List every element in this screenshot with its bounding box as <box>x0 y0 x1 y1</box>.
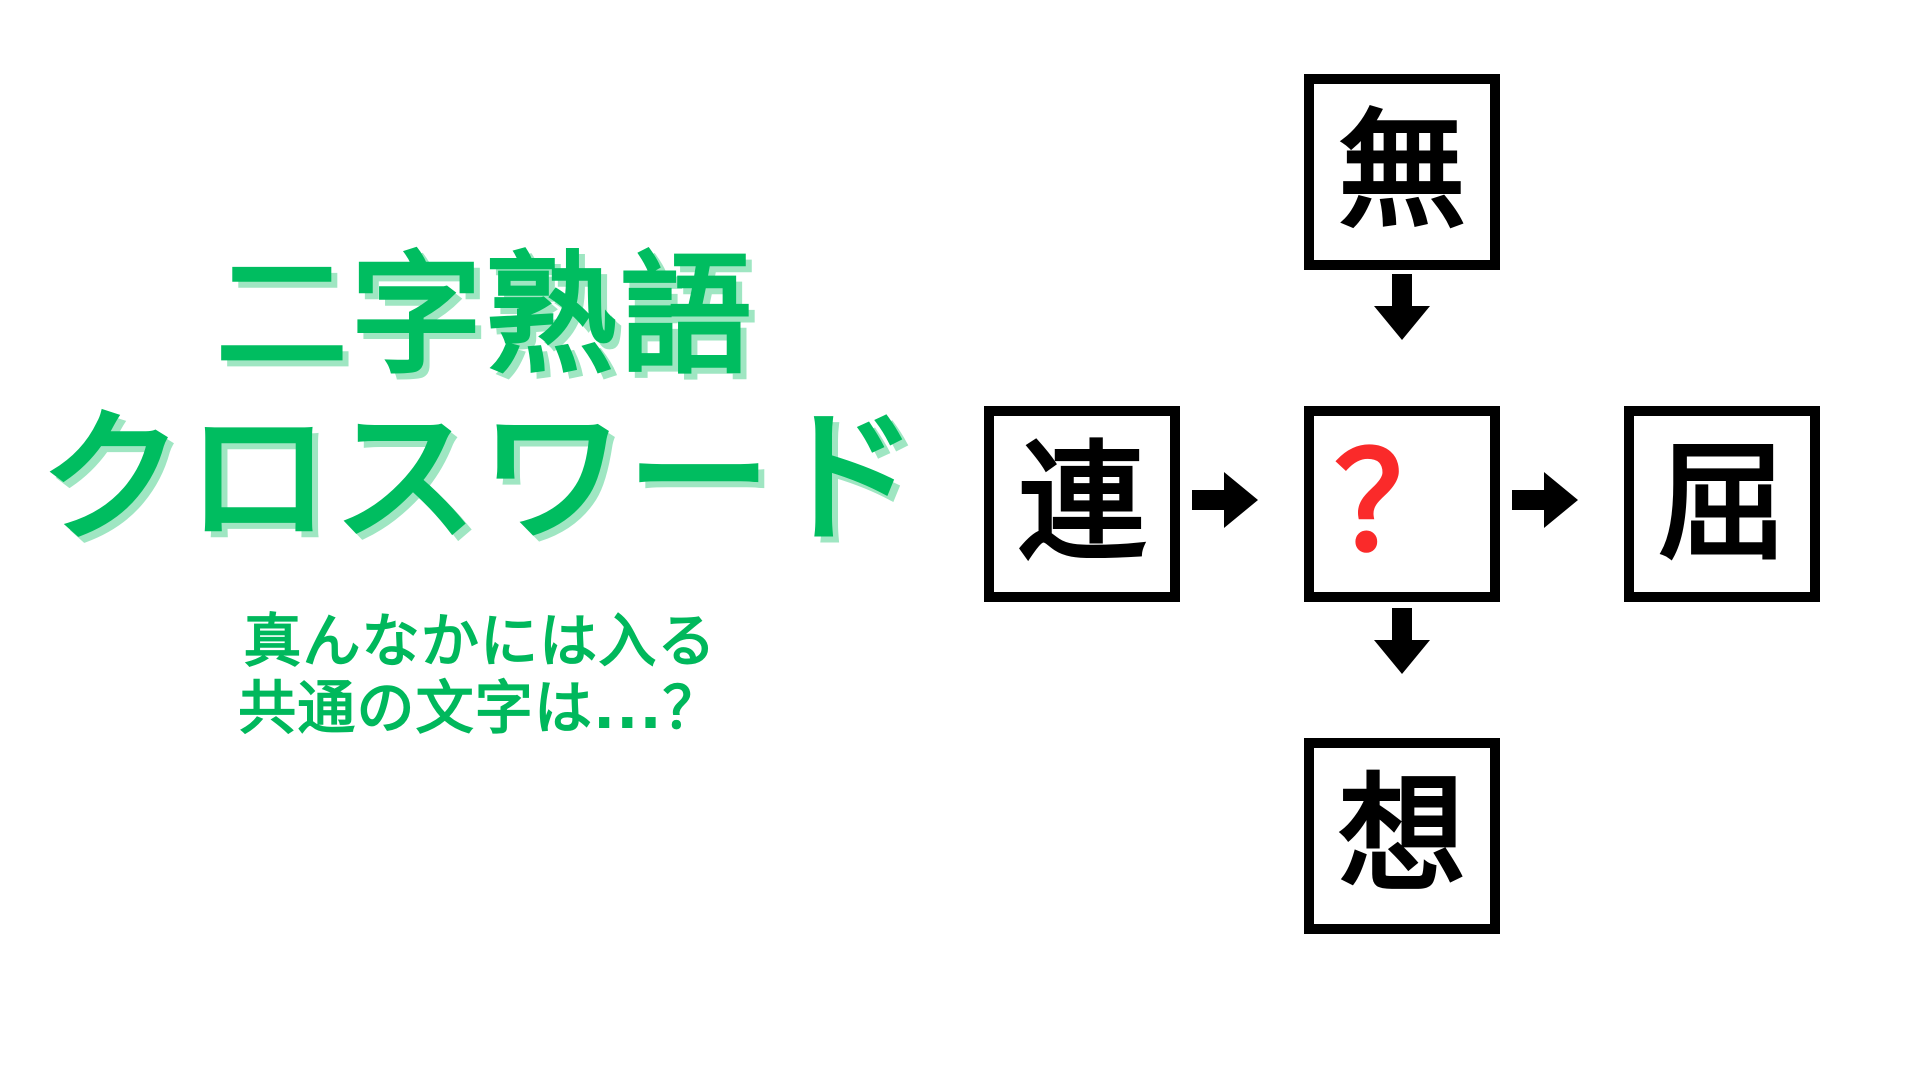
arrow-right-icon <box>1512 470 1580 530</box>
page-title-line-1: 二字熟語 <box>10 250 960 382</box>
puzzle-diagram: 無 連 ？ 屈 想 <box>960 0 1920 1080</box>
subtitle-line-1: 真んなかには入る <box>0 608 960 675</box>
puzzle-cell-bottom-char: 想 <box>1338 772 1466 900</box>
subtitle-line-2: 共通の文字は...？ <box>0 675 960 742</box>
puzzle-cell-bottom: 想 <box>1304 738 1500 934</box>
puzzle-cell-top: 無 <box>1304 74 1500 270</box>
title-block: 二字熟語 クロスワード 真んなかには入る 共通の文字は...？ <box>0 250 960 810</box>
puzzle-cell-center-question-mark: ？ <box>1334 436 1470 572</box>
puzzle-cell-left-char: 連 <box>1018 440 1146 568</box>
poster-root: 二字熟語 クロスワード 真んなかには入る 共通の文字は...？ 無 連 ？ 屈 … <box>0 0 1920 1080</box>
puzzle-cell-top-char: 無 <box>1338 108 1466 236</box>
subtitle: 真んなかには入る 共通の文字は...？ <box>0 608 960 741</box>
puzzle-cell-left: 連 <box>984 406 1180 602</box>
puzzle-cell-center[interactable]: ？ <box>1304 406 1500 602</box>
arrow-down-icon <box>1372 274 1432 342</box>
puzzle-cell-right: 屈 <box>1624 406 1820 602</box>
page-title-line-2: クロスワード <box>0 406 960 550</box>
arrow-right-icon <box>1192 470 1260 530</box>
arrow-down-icon <box>1372 608 1432 676</box>
puzzle-cell-right-char: 屈 <box>1658 440 1786 568</box>
